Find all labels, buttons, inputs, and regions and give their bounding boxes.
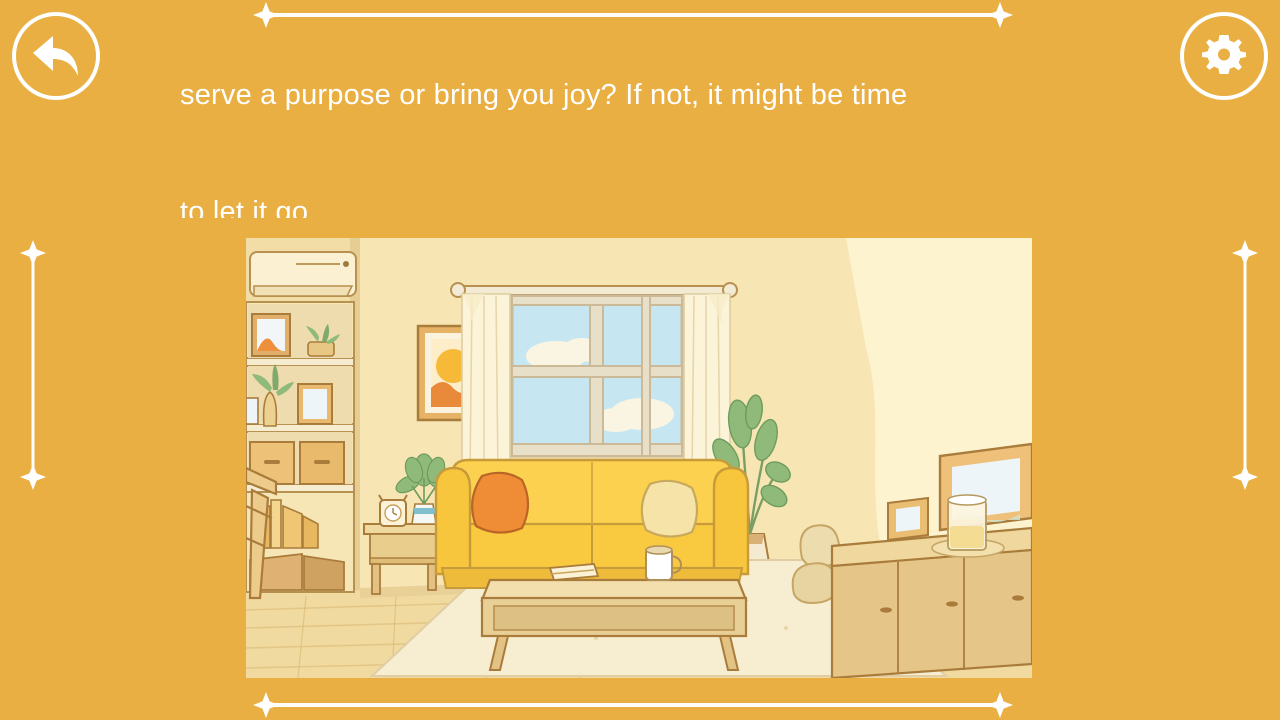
right-star-rule <box>1232 240 1258 490</box>
bottom-star-rule <box>248 692 1018 718</box>
orange-cushion <box>472 473 528 533</box>
gear-icon <box>1199 31 1249 81</box>
cream-cushion <box>642 481 697 537</box>
picture-frame-on-shelf <box>252 314 290 356</box>
narration-line-2: to let it go. <box>180 193 1080 218</box>
settings-button[interactable] <box>1180 12 1268 100</box>
app-screen: serve a purpose or bring you joy? If not… <box>0 0 1280 720</box>
back-button[interactable] <box>12 12 100 100</box>
narration-line-1: serve a purpose or bring you joy? If not… <box>180 76 1080 115</box>
alarm-clock <box>379 495 407 526</box>
narration-text-block: serve a purpose or bring you joy? If not… <box>180 18 1080 218</box>
air-conditioner <box>250 252 356 296</box>
back-arrow-icon <box>30 33 82 79</box>
left-star-rule <box>20 240 46 490</box>
tidy-living-room-illustration <box>246 238 1032 678</box>
small-picture-frame <box>888 498 928 540</box>
picture-frame-on-shelf <box>298 384 332 424</box>
window-with-sky <box>512 296 682 456</box>
